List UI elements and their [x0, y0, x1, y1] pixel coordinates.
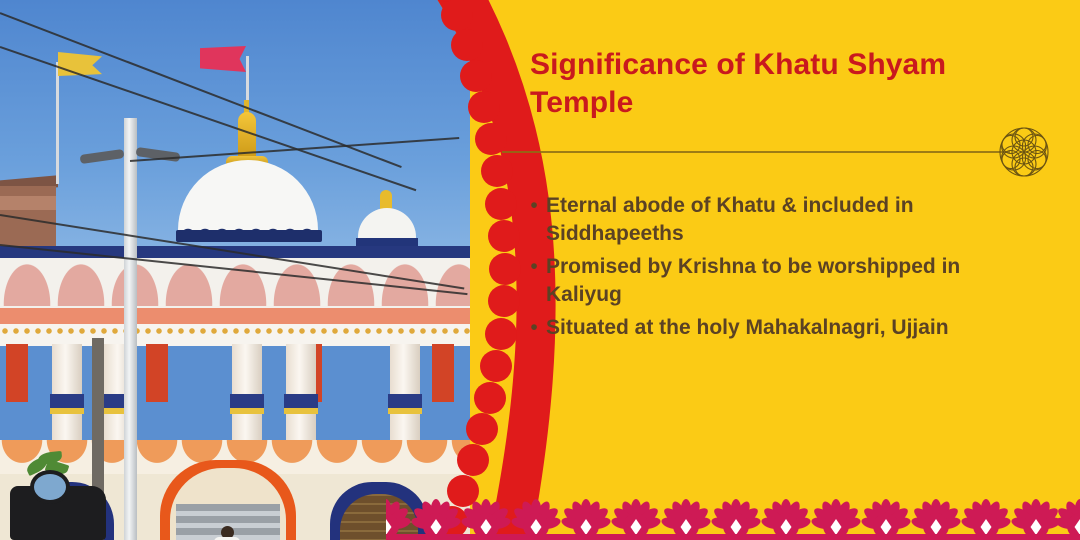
pillar-capital [50, 394, 84, 408]
yellow-flag-pole [56, 62, 59, 184]
list-item-label: Eternal abode of Khatu & included in Sid… [546, 192, 1032, 248]
facade-dot-trim [0, 326, 470, 336]
pillar [232, 344, 262, 440]
devotee-figure [214, 526, 240, 540]
pillar [286, 344, 316, 440]
bullet-marker-icon: • [522, 314, 546, 342]
pillar-capital [230, 394, 264, 408]
side-dome-band [356, 238, 418, 246]
pillar-row [0, 344, 470, 440]
list-item: • Eternal abode of Khatu & included in S… [522, 192, 1032, 248]
list-item-label: Promised by Krishna to be worshipped in … [546, 253, 1032, 309]
bullet-list: • Eternal abode of Khatu & included in S… [522, 192, 1032, 347]
temple-photo [0, 0, 470, 540]
bullet-marker-icon: • [522, 253, 546, 281]
red-column [6, 344, 28, 402]
content-panel: Significance of Khatu Shyam Temple • [500, 0, 1080, 540]
dome-blue-band [176, 230, 322, 242]
upper-arches [0, 258, 470, 306]
pillar [390, 344, 420, 440]
pillar-capital [284, 394, 318, 408]
red-column [146, 344, 168, 402]
title-divider-rule [502, 151, 1010, 153]
list-item: • Promised by Krishna to be worshipped i… [522, 253, 1032, 309]
mandala-rosette-icon [998, 126, 1050, 178]
list-item-label: Situated at the holy Mahakalnagri, Ujjai… [546, 314, 1032, 342]
red-flag-icon [200, 46, 246, 72]
pillar-capital-gold [230, 408, 264, 414]
page-title: Significance of Khatu Shyam Temple [530, 46, 1000, 123]
flower-border [386, 498, 1080, 540]
pillar-capital-gold [388, 408, 422, 414]
pillar-capital-gold [50, 408, 84, 414]
pillar-capital-gold [284, 408, 318, 414]
bullet-marker-icon: • [522, 192, 546, 220]
motorcycle-mirror [30, 470, 70, 504]
street-light-pole [124, 118, 137, 540]
slide-canvas: Significance of Khatu Shyam Temple • [0, 0, 1080, 540]
pillar-capital [388, 394, 422, 408]
red-column [432, 344, 454, 402]
pillar [52, 344, 82, 440]
list-item: • Situated at the holy Mahakalnagri, Ujj… [522, 314, 1032, 342]
